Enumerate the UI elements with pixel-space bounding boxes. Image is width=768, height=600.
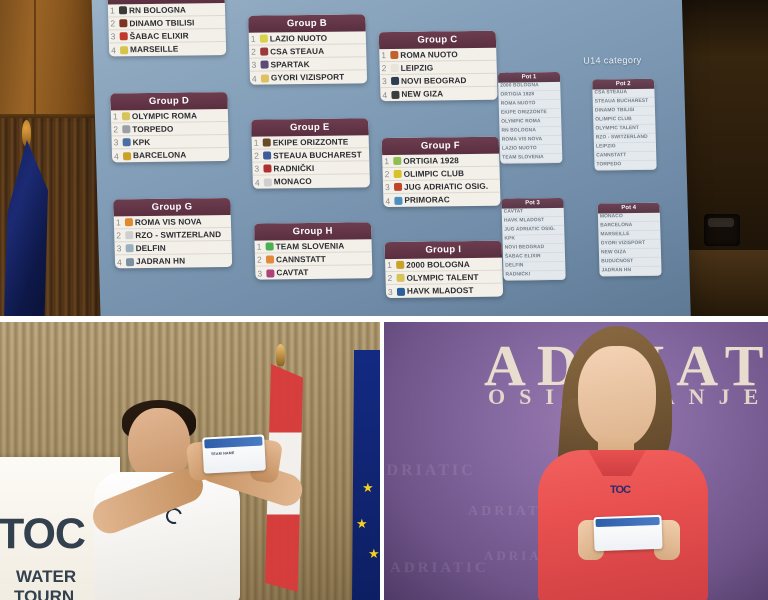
team-rank: 3 <box>382 76 389 86</box>
pot-card-1: Pot 12000 BOLOGNAORTIGIA 1928ROMA NUOTOE… <box>498 72 563 164</box>
banner-line-water: WATER <box>16 567 76 587</box>
team-name: ORTIGIA 1928 <box>403 156 459 166</box>
team-crest-icon <box>394 170 402 178</box>
projection-screen: TOC U14 category Group A1RN BOLOGNA2DINA… <box>91 0 691 318</box>
girl-face <box>578 346 656 448</box>
team-rank: 1 <box>257 242 264 252</box>
group-header: Group E <box>251 118 368 136</box>
team-name: DELFIN <box>136 243 166 252</box>
team-name: 2000 BOLOGNA <box>406 260 470 270</box>
flag-finial-icon <box>276 344 285 366</box>
team-crest-icon <box>394 196 402 204</box>
team-rank: 2 <box>382 63 389 73</box>
man-figure: TEAM NAME <box>84 400 264 600</box>
team-rank: 2 <box>251 47 258 57</box>
team-rank: 4 <box>255 177 262 187</box>
photo-girl-drawing: ADRIATIC OSIGURANJE ADRIATIC ADRIATIC AD… <box>384 322 768 600</box>
wood-seam <box>34 0 36 118</box>
group-team-row: 4MONACO <box>253 174 370 188</box>
group-card-a: Group A1RN BOLOGNA2DINAMO TBILISI3ŠABAC … <box>107 0 226 56</box>
pot-card-3: Pot 3CAVTATHAVK MLADOSTJUG ADRIATIC OSIG… <box>501 198 565 281</box>
pot-team-row: TEAM SLOVENIA <box>500 154 562 164</box>
ticket-team-name: TEAM NAME <box>211 451 235 456</box>
team-crest-icon <box>396 274 404 282</box>
team-rank: 4 <box>111 45 118 55</box>
team-name: STEAUA BUCHAREST <box>273 150 362 160</box>
team-rank: 2 <box>113 124 120 134</box>
team-name: HAVK MLADOST <box>407 286 474 296</box>
team-rank: 2 <box>387 273 394 283</box>
team-crest-icon <box>396 261 404 269</box>
team-crest-icon <box>122 125 130 133</box>
team-rank: 3 <box>385 182 392 192</box>
screenshot-collage: TOC U14 category Group A1RN BOLOGNA2DINA… <box>0 0 768 600</box>
team-rank: 1 <box>251 34 258 44</box>
girl-figure: TOC <box>512 324 732 600</box>
team-name: NEW GIZA <box>401 89 443 99</box>
team-name: GYORI VIZISPORT <box>271 73 345 83</box>
team-rank: 3 <box>254 164 261 174</box>
group-header: Group F <box>382 137 499 155</box>
team-rank: 1 <box>384 156 391 166</box>
team-name: CANNSTATT <box>276 254 326 264</box>
ticket-header-bar <box>595 517 659 527</box>
eu-star-icon: ★ <box>356 516 368 532</box>
team-name: OLYMPIC TALENT <box>406 272 478 282</box>
team-name: TORPEDO <box>132 124 173 133</box>
group-header: Group H <box>254 222 371 240</box>
group-team-row: 4NEW GIZA <box>380 87 497 101</box>
team-name: ROMA VIS NOVA <box>135 217 202 227</box>
backdrop-watermark: ADRIATIC <box>384 462 476 480</box>
pot-card-2: Pot 2CSA STEAUASTEAUA BUCHARESTDINAMO TB… <box>592 79 657 171</box>
team-rank: 1 <box>381 50 388 60</box>
team-name: RN BOLOGNA <box>129 5 186 15</box>
pot-team-row: TORPEDO <box>594 161 656 171</box>
team-name: SPARTAK <box>270 60 309 69</box>
team-crest-icon <box>263 151 271 159</box>
team-crest-icon <box>266 269 274 277</box>
group-team-row: 4PRIMORAC <box>383 193 500 207</box>
team-rank: 3 <box>111 31 118 41</box>
team-name: ROMA NUOTO <box>400 50 458 60</box>
group-header: Group C <box>379 31 496 49</box>
group-header: Group D <box>110 92 227 110</box>
group-card-d: Group D1OLYMPIC ROMA2TORPEDO3KPK4BARCELO… <box>110 92 229 162</box>
team-name: OLYMPIC ROMA <box>132 111 197 121</box>
team-rank: 2 <box>116 230 123 240</box>
group-team-row: 3HAVK MLADOST <box>386 284 503 298</box>
group-header: Group G <box>113 198 230 216</box>
team-rank: 4 <box>117 257 124 267</box>
group-card-c: Group C1ROMA NUOTO2LEIPZIG3NOVI BEOGRAD4… <box>379 31 498 101</box>
tournament-logo: TOC <box>221 0 279 8</box>
group-team-row: 3CAVTAT <box>255 265 372 279</box>
bottom-photo-row: ★ ★ ★ TOC WATER TOURN TEAM NAM <box>0 318 768 600</box>
team-name: JADRAN HN <box>136 257 185 267</box>
draw-ticket: TEAM NAME <box>202 434 266 473</box>
team-name: KPK <box>133 137 151 146</box>
team-name: JUG ADRIATIC OSIG. <box>404 181 488 191</box>
team-crest-icon <box>126 258 134 266</box>
team-name: PRIMORAC <box>404 195 450 205</box>
team-crest-icon <box>261 74 269 82</box>
team-rank: 4 <box>252 73 259 83</box>
team-name: EKIPE ORIZZONTE <box>273 137 349 147</box>
team-rank: 1 <box>110 5 117 15</box>
team-crest-icon <box>125 218 133 226</box>
team-crest-icon <box>394 183 402 191</box>
team-crest-icon <box>391 77 399 85</box>
team-name: NOVI BEOGRAD <box>401 76 467 86</box>
team-crest-icon <box>126 244 134 252</box>
group-card-h: Group H1TEAM SLOVENIA2CANNSTATT3CAVTAT <box>254 222 373 279</box>
team-rank: 3 <box>251 60 258 70</box>
team-crest-icon <box>122 112 130 120</box>
team-crest-icon <box>393 157 401 165</box>
category-label: U14 category <box>583 55 642 66</box>
team-rank: 3 <box>114 137 121 147</box>
team-crest-icon <box>266 242 274 250</box>
team-crest-icon <box>263 164 271 172</box>
team-rank: 3 <box>257 268 264 278</box>
group-team-row: 4GYORI VIZISPORT <box>250 70 367 84</box>
team-rank: 1 <box>116 217 123 227</box>
ticket-header-bar <box>204 437 262 449</box>
banner-line-tourn: TOURN <box>14 587 74 600</box>
eu-star-icon: ★ <box>368 546 380 562</box>
team-rank: 3 <box>116 243 123 253</box>
team-rank: 4 <box>385 195 392 205</box>
team-crest-icon <box>120 32 128 40</box>
team-name: BARCELONA <box>133 151 186 161</box>
team-rank: 3 <box>388 286 395 296</box>
team-rank: 2 <box>257 255 264 265</box>
team-name: TEAM SLOVENIA <box>276 241 345 251</box>
team-crest-icon <box>390 51 398 59</box>
team-name: DINAMO TBILISI <box>129 18 194 28</box>
draw-screen-photo: TOC U14 category Group A1RN BOLOGNA2DINA… <box>0 0 768 318</box>
team-name: RADNIČKI <box>273 163 314 172</box>
team-name: CSA STEAUA <box>270 46 324 56</box>
team-crest-icon <box>391 90 399 98</box>
team-name: CAVTAT <box>276 268 308 277</box>
team-rank: 2 <box>385 169 392 179</box>
team-name: LEIPZIG <box>401 63 434 72</box>
group-card-i: Group I12000 BOLOGNA2OLYMPIC TALENT3HAVK… <box>385 241 504 298</box>
team-rank: 4 <box>114 151 121 161</box>
team-crest-icon <box>264 178 272 186</box>
team-crest-icon <box>119 19 127 27</box>
team-rank: 4 <box>382 90 389 100</box>
team-name: LAZIO NUOTO <box>270 33 328 43</box>
pot-team-row: RADNIČKI <box>503 271 565 281</box>
group-team-row: 4JADRAN HN <box>115 254 232 268</box>
team-rank: 2 <box>254 151 261 161</box>
team-crest-icon <box>123 152 131 160</box>
banner-logo-text: TOC <box>0 510 85 559</box>
team-crest-icon <box>260 48 268 56</box>
pot-team-row: JADRAN HN <box>599 267 661 277</box>
group-header: Group I <box>385 241 502 259</box>
team-rank: 1 <box>254 138 261 148</box>
group-header: Group B <box>248 14 365 32</box>
team-name: MARSEILLE <box>130 45 178 55</box>
team-crest-icon <box>125 231 133 239</box>
speaker-sheen <box>708 218 734 227</box>
eu-flag: ★ ★ ★ <box>352 350 380 600</box>
team-rank: 1 <box>113 111 120 121</box>
group-team-row: 4BARCELONA <box>112 148 229 162</box>
team-crest-icon <box>119 6 127 14</box>
team-crest-icon <box>260 61 268 69</box>
team-rank: 2 <box>110 18 117 28</box>
team-crest-icon <box>397 287 405 295</box>
group-card-f: Group F1ORTIGIA 19282OLIMPIC CLUB3JUG AD… <box>382 137 501 207</box>
team-crest-icon <box>260 35 268 43</box>
team-name: MONACO <box>274 177 312 186</box>
team-crest-icon <box>266 255 274 263</box>
team-crest-icon <box>263 138 271 146</box>
team-name: RZO - SWITZERLAND <box>135 230 221 240</box>
team-crest-icon <box>120 46 128 54</box>
group-card-b: Group B1LAZIO NUOTO2CSA STEAUA3SPARTAK4G… <box>248 14 367 84</box>
shirt-logo-text: TOC <box>610 484 630 496</box>
photo-man-drawing: ★ ★ ★ TOC WATER TOURN TEAM NAM <box>0 322 380 600</box>
group-card-g: Group G1ROMA VIS NOVA2RZO - SWITZERLAND3… <box>113 198 232 268</box>
team-crest-icon <box>391 64 399 72</box>
team-name: OLIMPIC CLUB <box>404 169 465 179</box>
group-card-e: Group E1EKIPE ORIZZONTE2STEAUA BUCHAREST… <box>251 118 370 188</box>
draw-ticket <box>593 515 662 551</box>
backdrop-watermark: ADRIATIC <box>390 560 489 577</box>
team-rank: 1 <box>387 260 394 270</box>
eu-star-icon: ★ <box>362 480 374 496</box>
team-crest-icon <box>123 138 131 146</box>
pot-card-4: Pot 4MONACOBARCELONAMARSEILLEGYORI VIZIS… <box>598 203 662 277</box>
group-team-row: 4MARSEILLE <box>109 42 226 56</box>
team-name: ŠABAC ELIXIR <box>130 31 189 41</box>
